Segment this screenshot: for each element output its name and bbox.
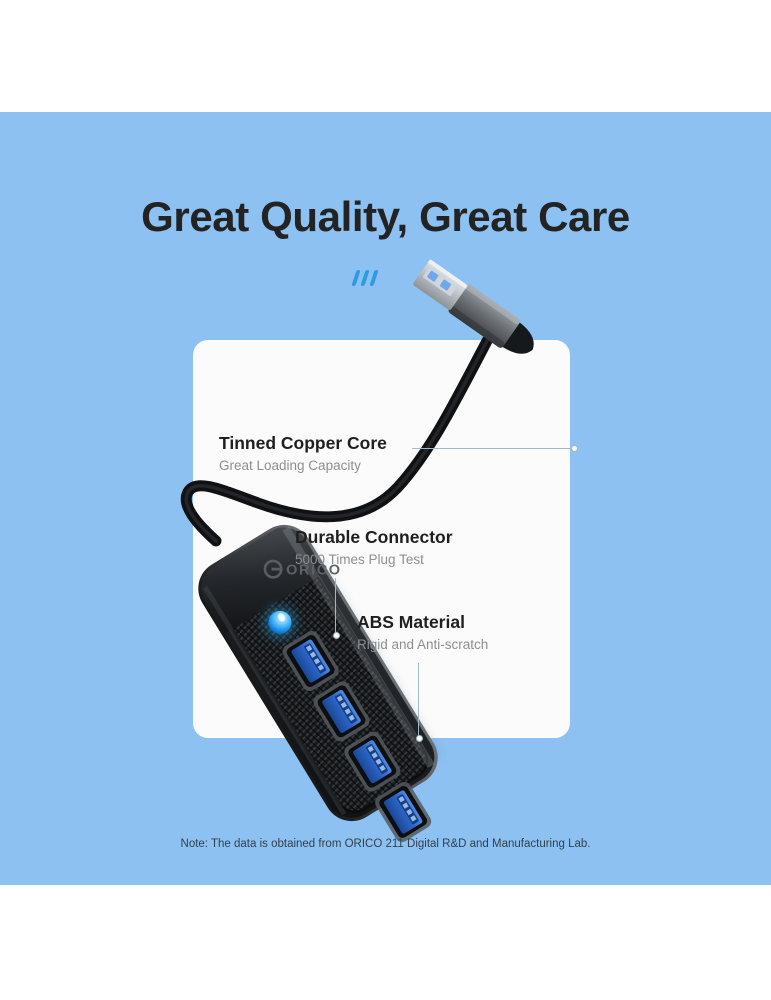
leader-line-copper — [412, 448, 575, 449]
feature-durable-connector: Durable Connector 5000 Times Plug Test — [295, 528, 453, 568]
leader-dot-connector — [333, 632, 340, 639]
feature-subtitle: 5000 Times Plug Test — [295, 553, 453, 568]
feature-subtitle: Rigid and Anti-scratch — [357, 638, 488, 653]
leader-dot-copper — [571, 445, 578, 452]
feature-tinned-copper-core: Tinned Copper Core Great Loading Capacit… — [219, 434, 387, 474]
feature-abs-material: ABS Material Rigid and Anti-scratch — [357, 613, 488, 653]
triple-slash-divider-icon — [352, 270, 392, 288]
footer-note: Note: The data is obtained from ORICO 21… — [0, 838, 771, 850]
feature-title: Durable Connector — [295, 528, 453, 547]
feature-subtitle: Great Loading Capacity — [219, 459, 387, 474]
leader-dot-abs — [416, 735, 423, 742]
leader-line-connector — [335, 578, 336, 636]
leader-line-abs — [418, 663, 419, 739]
page-title: Great Quality, Great Care — [0, 193, 771, 241]
feature-title: Tinned Copper Core — [219, 434, 387, 453]
page-root: Great Quality, Great Care — [0, 0, 771, 1000]
feature-title: ABS Material — [357, 613, 488, 632]
